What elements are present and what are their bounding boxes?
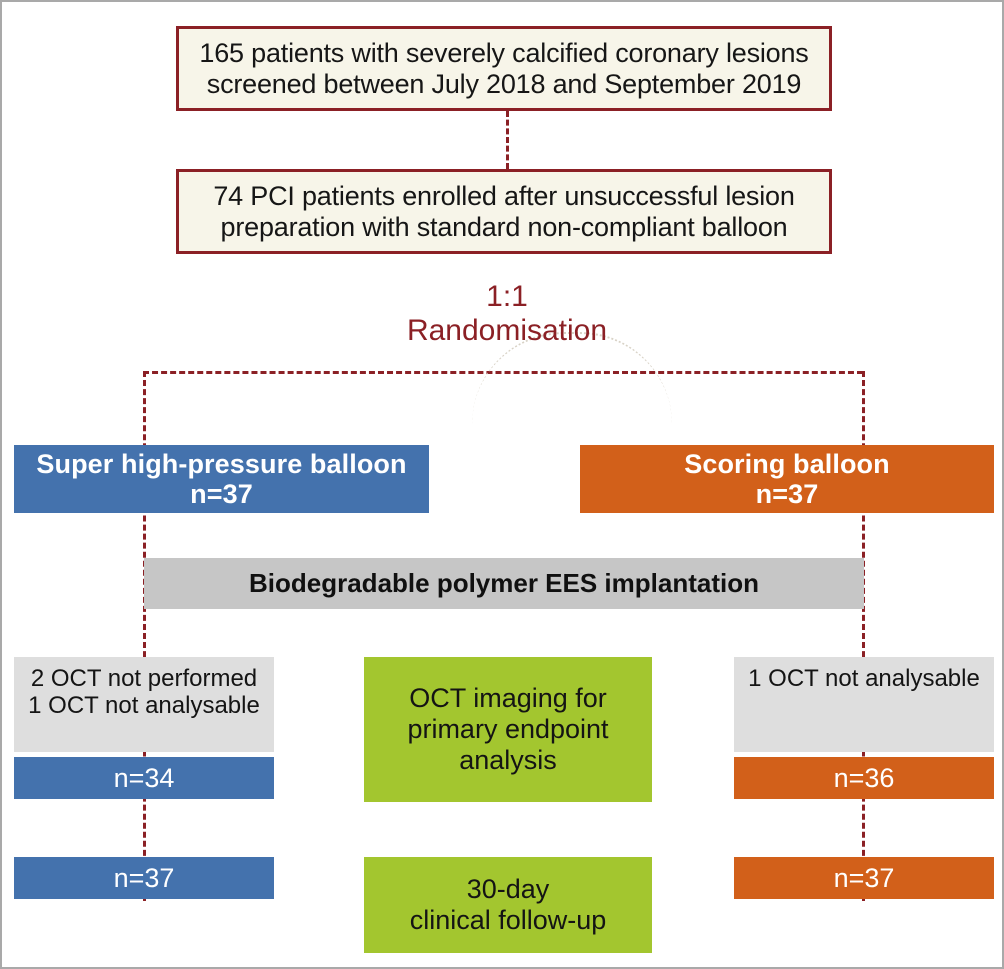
oct-imaging-line-1: OCT imaging for (407, 683, 608, 714)
node-arm-scoring-balloon: Scoring balloon n=37 (580, 445, 994, 513)
n-left-oct-value: n=34 (114, 763, 175, 793)
followup-line-1: 30-day (410, 874, 607, 905)
enrolled-line-2: preparation with standard non-compliant … (213, 212, 794, 242)
node-oct-imaging-primary-endpoint: OCT imaging for primary endpoint analysi… (364, 657, 652, 802)
flowchart-canvas: 165 patients with severely calcified cor… (0, 0, 1004, 969)
arm-left-name: Super high-pressure balloon (36, 449, 406, 479)
screened-line-2: screened between July 2018 and September… (199, 69, 808, 99)
arm-left-n: n=37 (36, 479, 406, 509)
node-n-left-oct-analysed: n=34 (14, 757, 274, 799)
n-right-oct-value: n=36 (834, 763, 895, 793)
arm-right-name: Scoring balloon (684, 449, 890, 479)
n-left-followup-value: n=37 (114, 863, 175, 893)
connector-screened-to-enrolled (506, 111, 509, 169)
arm-right-n: n=37 (684, 479, 890, 509)
node-ees-implantation: Biodegradable polymer EES implantation (144, 558, 864, 609)
node-enrolled-patients: 74 PCI patients enrolled after unsuccess… (176, 169, 832, 254)
followup-line-2: clinical follow-up (410, 905, 607, 936)
randomisation-text: Randomisation (362, 314, 652, 348)
screened-line-1: 165 patients with severely calcified cor… (199, 38, 808, 68)
node-n-right-oct-analysed: n=36 (734, 757, 994, 799)
node-note-left-oct-exclusions: 2 OCT not performed 1 OCT not analysable (14, 657, 274, 752)
oct-imaging-line-2: primary endpoint (407, 714, 608, 745)
enrolled-line-1: 74 PCI patients enrolled after unsuccess… (213, 181, 794, 211)
note-right-line-1: 1 OCT not analysable (748, 666, 980, 693)
note-left-line-1: 2 OCT not performed (28, 666, 260, 693)
oct-imaging-line-3: analysis (407, 745, 608, 776)
randomisation-ratio: 1:1 (362, 280, 652, 314)
node-note-right-oct-exclusions: 1 OCT not analysable (734, 657, 994, 752)
note-left-line-2: 1 OCT not analysable (28, 693, 260, 720)
node-arm-super-high-pressure-balloon: Super high-pressure balloon n=37 (14, 445, 429, 513)
node-n-left-followup: n=37 (14, 857, 274, 899)
node-n-right-followup: n=37 (734, 857, 994, 899)
implantation-label: Biodegradable polymer EES implantation (249, 569, 759, 598)
node-30-day-clinical-followup: 30-day clinical follow-up (364, 857, 652, 953)
node-screened-patients: 165 patients with severely calcified cor… (176, 26, 832, 111)
randomisation-label: 1:1 Randomisation (362, 280, 652, 347)
n-right-followup-value: n=37 (834, 863, 895, 893)
